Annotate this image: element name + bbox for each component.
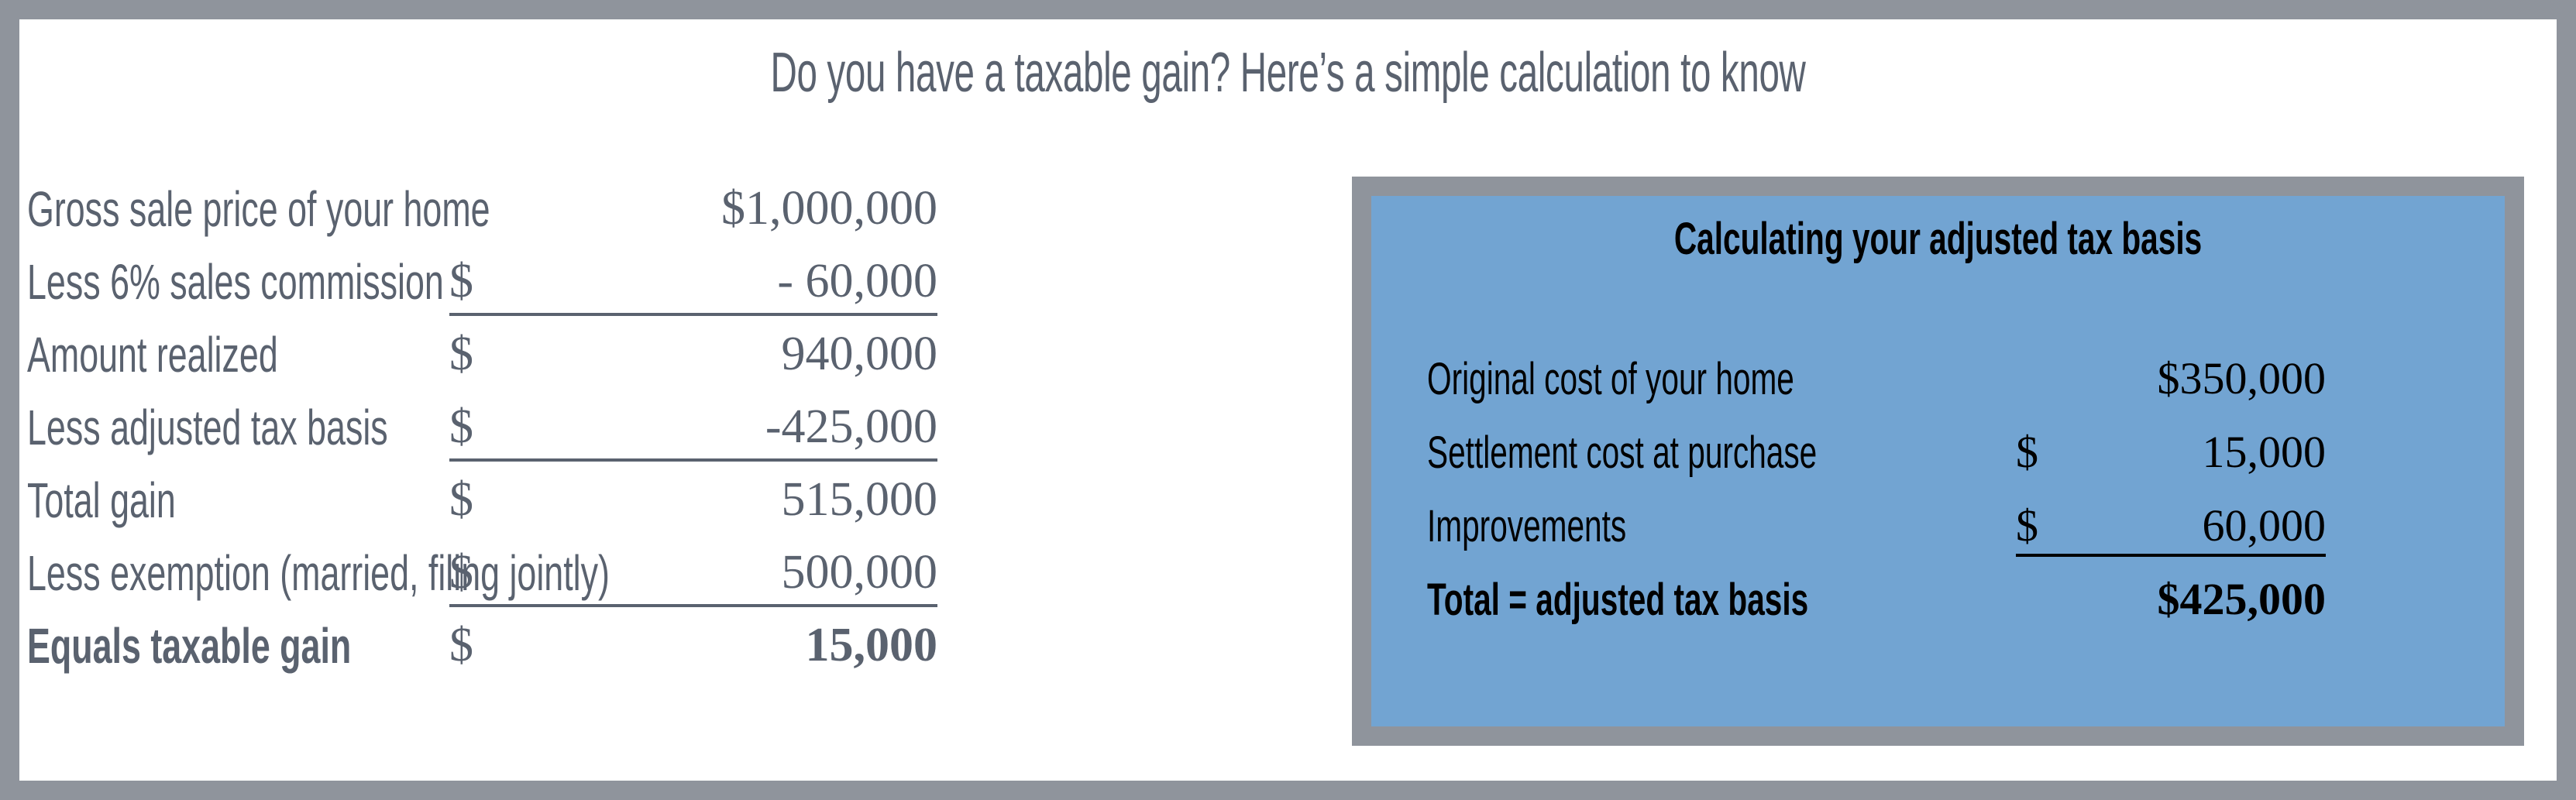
row-value: $15,000: [449, 615, 937, 677]
currency-symbol: $: [449, 542, 473, 603]
row-label: Total gain: [27, 469, 176, 531]
adjusted-basis-table: Original cost of your home$350,000Settle…: [1427, 351, 2450, 645]
row-value-inner: $1,000,000: [449, 178, 937, 239]
row-label: Equals taxable gain: [27, 615, 351, 677]
table-row: Gross sale price of your home$1,000,000: [27, 178, 949, 251]
table-row: Less 6% sales commission$- 60,000: [27, 251, 949, 324]
row-value: $60,000: [2016, 498, 2326, 555]
row-value: $425,000: [2016, 572, 2326, 629]
panel-title: Calculating your adjusted tax basis: [1541, 213, 2334, 265]
row-value-inner: $- 60,000: [449, 251, 937, 311]
currency-symbol: $: [449, 251, 473, 311]
row-amount: - 60,000: [777, 251, 937, 311]
row-amount: 60,000: [2203, 498, 2327, 554]
row-value-inner: $425,000: [2016, 572, 2326, 627]
row-value-inner: $60,000: [2016, 498, 2326, 554]
row-amount: -425,000: [765, 397, 937, 457]
table-row: Total gain$515,000: [27, 469, 949, 542]
row-value: $- 60,000: [449, 251, 937, 313]
page-title: Do you have a taxable gain? Here’s a sim…: [451, 41, 2126, 105]
currency-symbol: $: [449, 615, 473, 675]
currency-symbol: $: [449, 397, 473, 457]
table-row: Less adjusted tax basis$-425,000: [27, 397, 949, 469]
row-amount: 515,000: [782, 469, 938, 530]
row-amount: 500,000: [782, 542, 938, 603]
row-value: $940,000: [449, 324, 937, 386]
adjusted-basis-panel: Calculating your adjusted tax basis Orig…: [1352, 177, 2524, 746]
row-value-inner: $515,000: [449, 469, 937, 530]
currency-symbol: $: [2016, 498, 2038, 554]
row-value-inner: $-425,000: [449, 397, 937, 457]
row-label: Settlement cost at purchase: [1427, 424, 1817, 482]
row-value-inner: $500,000: [449, 542, 937, 603]
row-amount: $1,000,000: [721, 178, 937, 239]
row-amount: 15,000: [2203, 424, 2327, 480]
slide-page: Do you have a taxable gain? Here’s a sim…: [19, 19, 2557, 781]
table-row: Original cost of your home$350,000: [1427, 351, 2450, 424]
row-label: Less adjusted tax basis: [27, 397, 388, 458]
adjusted-basis-panel-inner: Calculating your adjusted tax basis Orig…: [1371, 196, 2505, 726]
currency-symbol: $: [449, 469, 473, 530]
table-row: Equals taxable gain$15,000: [27, 615, 949, 688]
row-amount: $425,000: [2158, 572, 2327, 627]
row-label: Original cost of your home: [1427, 351, 1794, 408]
row-label: Improvements: [1427, 498, 1626, 555]
taxable-gain-table: Gross sale price of your home$1,000,000L…: [27, 178, 949, 688]
row-label: Amount realized: [27, 324, 278, 386]
row-label: Less 6% sales commission: [27, 251, 444, 313]
row-value-inner: $15,000: [2016, 424, 2326, 480]
row-value: $515,000: [449, 469, 937, 531]
row-label: Gross sale price of your home: [27, 178, 490, 240]
row-amount: 15,000: [806, 615, 938, 675]
row-amount: 940,000: [782, 324, 938, 384]
row-value: $1,000,000: [449, 178, 937, 240]
row-value: $15,000: [2016, 424, 2326, 482]
table-row: Total = adjusted tax basis$425,000: [1427, 572, 2450, 645]
row-value-inner: $940,000: [449, 324, 937, 384]
row-value-inner: $350,000: [2016, 351, 2326, 407]
currency-symbol: $: [2016, 424, 2038, 480]
table-row: Amount realized$940,000: [27, 324, 949, 397]
row-value: $500,000: [449, 542, 937, 604]
table-row: Less exemption (married, filing jointly)…: [27, 542, 949, 615]
row-value-inner: $15,000: [449, 615, 937, 675]
table-row: Settlement cost at purchase$15,000: [1427, 424, 2450, 498]
row-value: $-425,000: [449, 397, 937, 458]
row-amount: $350,000: [2158, 351, 2327, 407]
table-row: Improvements$60,000: [1427, 498, 2450, 572]
row-label: Total = adjusted tax basis: [1427, 572, 1808, 629]
row-value: $350,000: [2016, 351, 2326, 408]
slide-canvas: Do you have a taxable gain? Here’s a sim…: [0, 0, 2576, 800]
currency-symbol: $: [449, 324, 473, 384]
